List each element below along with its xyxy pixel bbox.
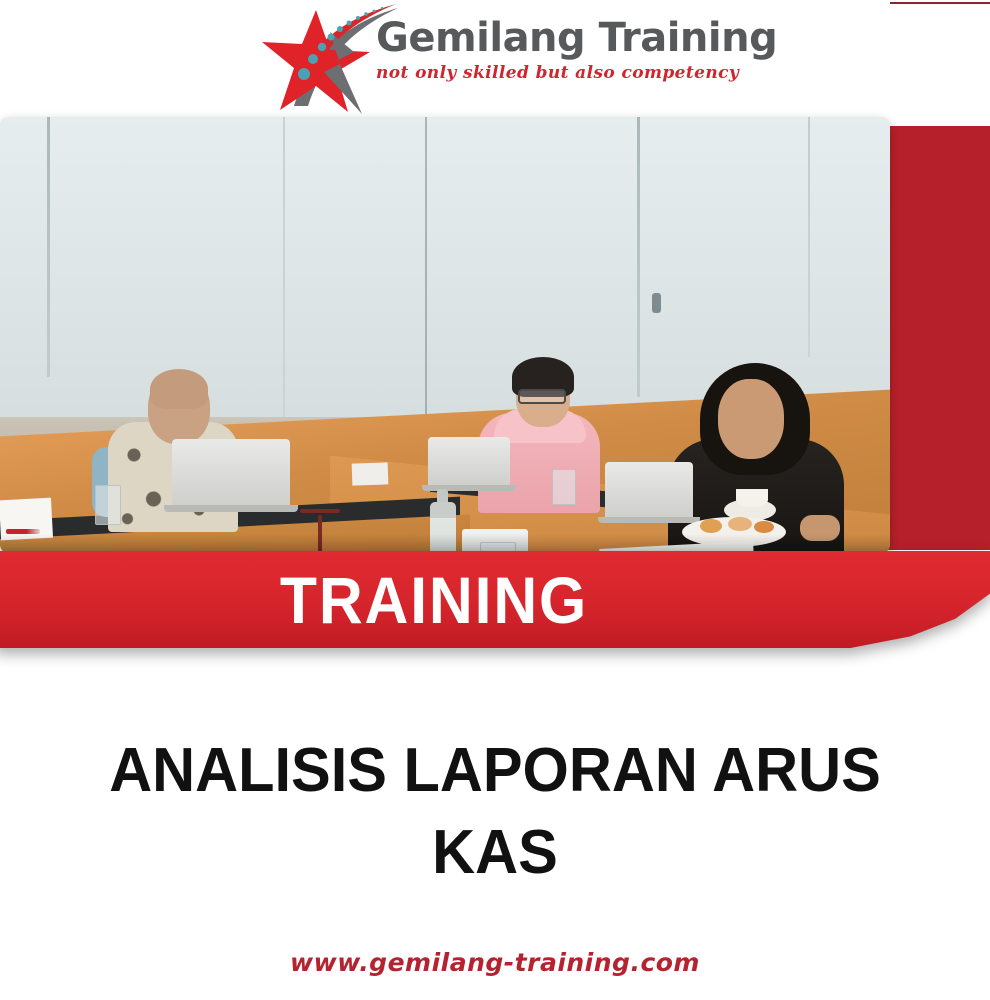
drinking-glass bbox=[95, 485, 121, 525]
snack-item bbox=[700, 519, 722, 533]
person-right-head bbox=[718, 379, 784, 459]
coffee-cup bbox=[736, 489, 768, 507]
snack-item bbox=[754, 521, 774, 533]
website-url[interactable]: www.gemilang-training.com bbox=[0, 948, 990, 977]
laptop-base bbox=[598, 517, 700, 523]
page-title: ANALISIS LAPORAN ARUS KAS bbox=[58, 730, 932, 894]
brand-logo: Gemilang Training not only skilled but a… bbox=[0, 0, 990, 115]
wall-seam bbox=[637, 117, 640, 397]
drinking-glass bbox=[552, 469, 576, 505]
laptop-screen bbox=[428, 437, 510, 485]
brand-tagline: not only skilled but also competency bbox=[376, 62, 742, 84]
page-title-line-2: KAS bbox=[58, 812, 932, 894]
laptop-screen bbox=[605, 462, 693, 517]
training-banner-label: TRAINING bbox=[29, 551, 839, 648]
wall-seam bbox=[808, 117, 810, 357]
wall-seam bbox=[283, 117, 285, 417]
notepad bbox=[352, 462, 389, 485]
training-banner: TRAINING bbox=[0, 551, 990, 648]
person-left-hair bbox=[150, 369, 208, 409]
wall-seam bbox=[425, 117, 427, 417]
power-cable bbox=[300, 509, 340, 513]
laptop-base bbox=[164, 505, 298, 512]
right-red-accent-slab bbox=[876, 126, 990, 550]
training-photo bbox=[0, 117, 890, 554]
eyeglasses-icon bbox=[518, 389, 566, 404]
snack-item bbox=[728, 517, 752, 531]
page-title-line-1: ANALISIS LAPORAN ARUS bbox=[58, 730, 932, 812]
wall-seam bbox=[47, 117, 50, 377]
brand-name: Gemilang Training bbox=[376, 16, 742, 60]
door-handle bbox=[652, 293, 661, 313]
laptop-base bbox=[422, 485, 516, 491]
laptop-screen bbox=[172, 439, 290, 505]
